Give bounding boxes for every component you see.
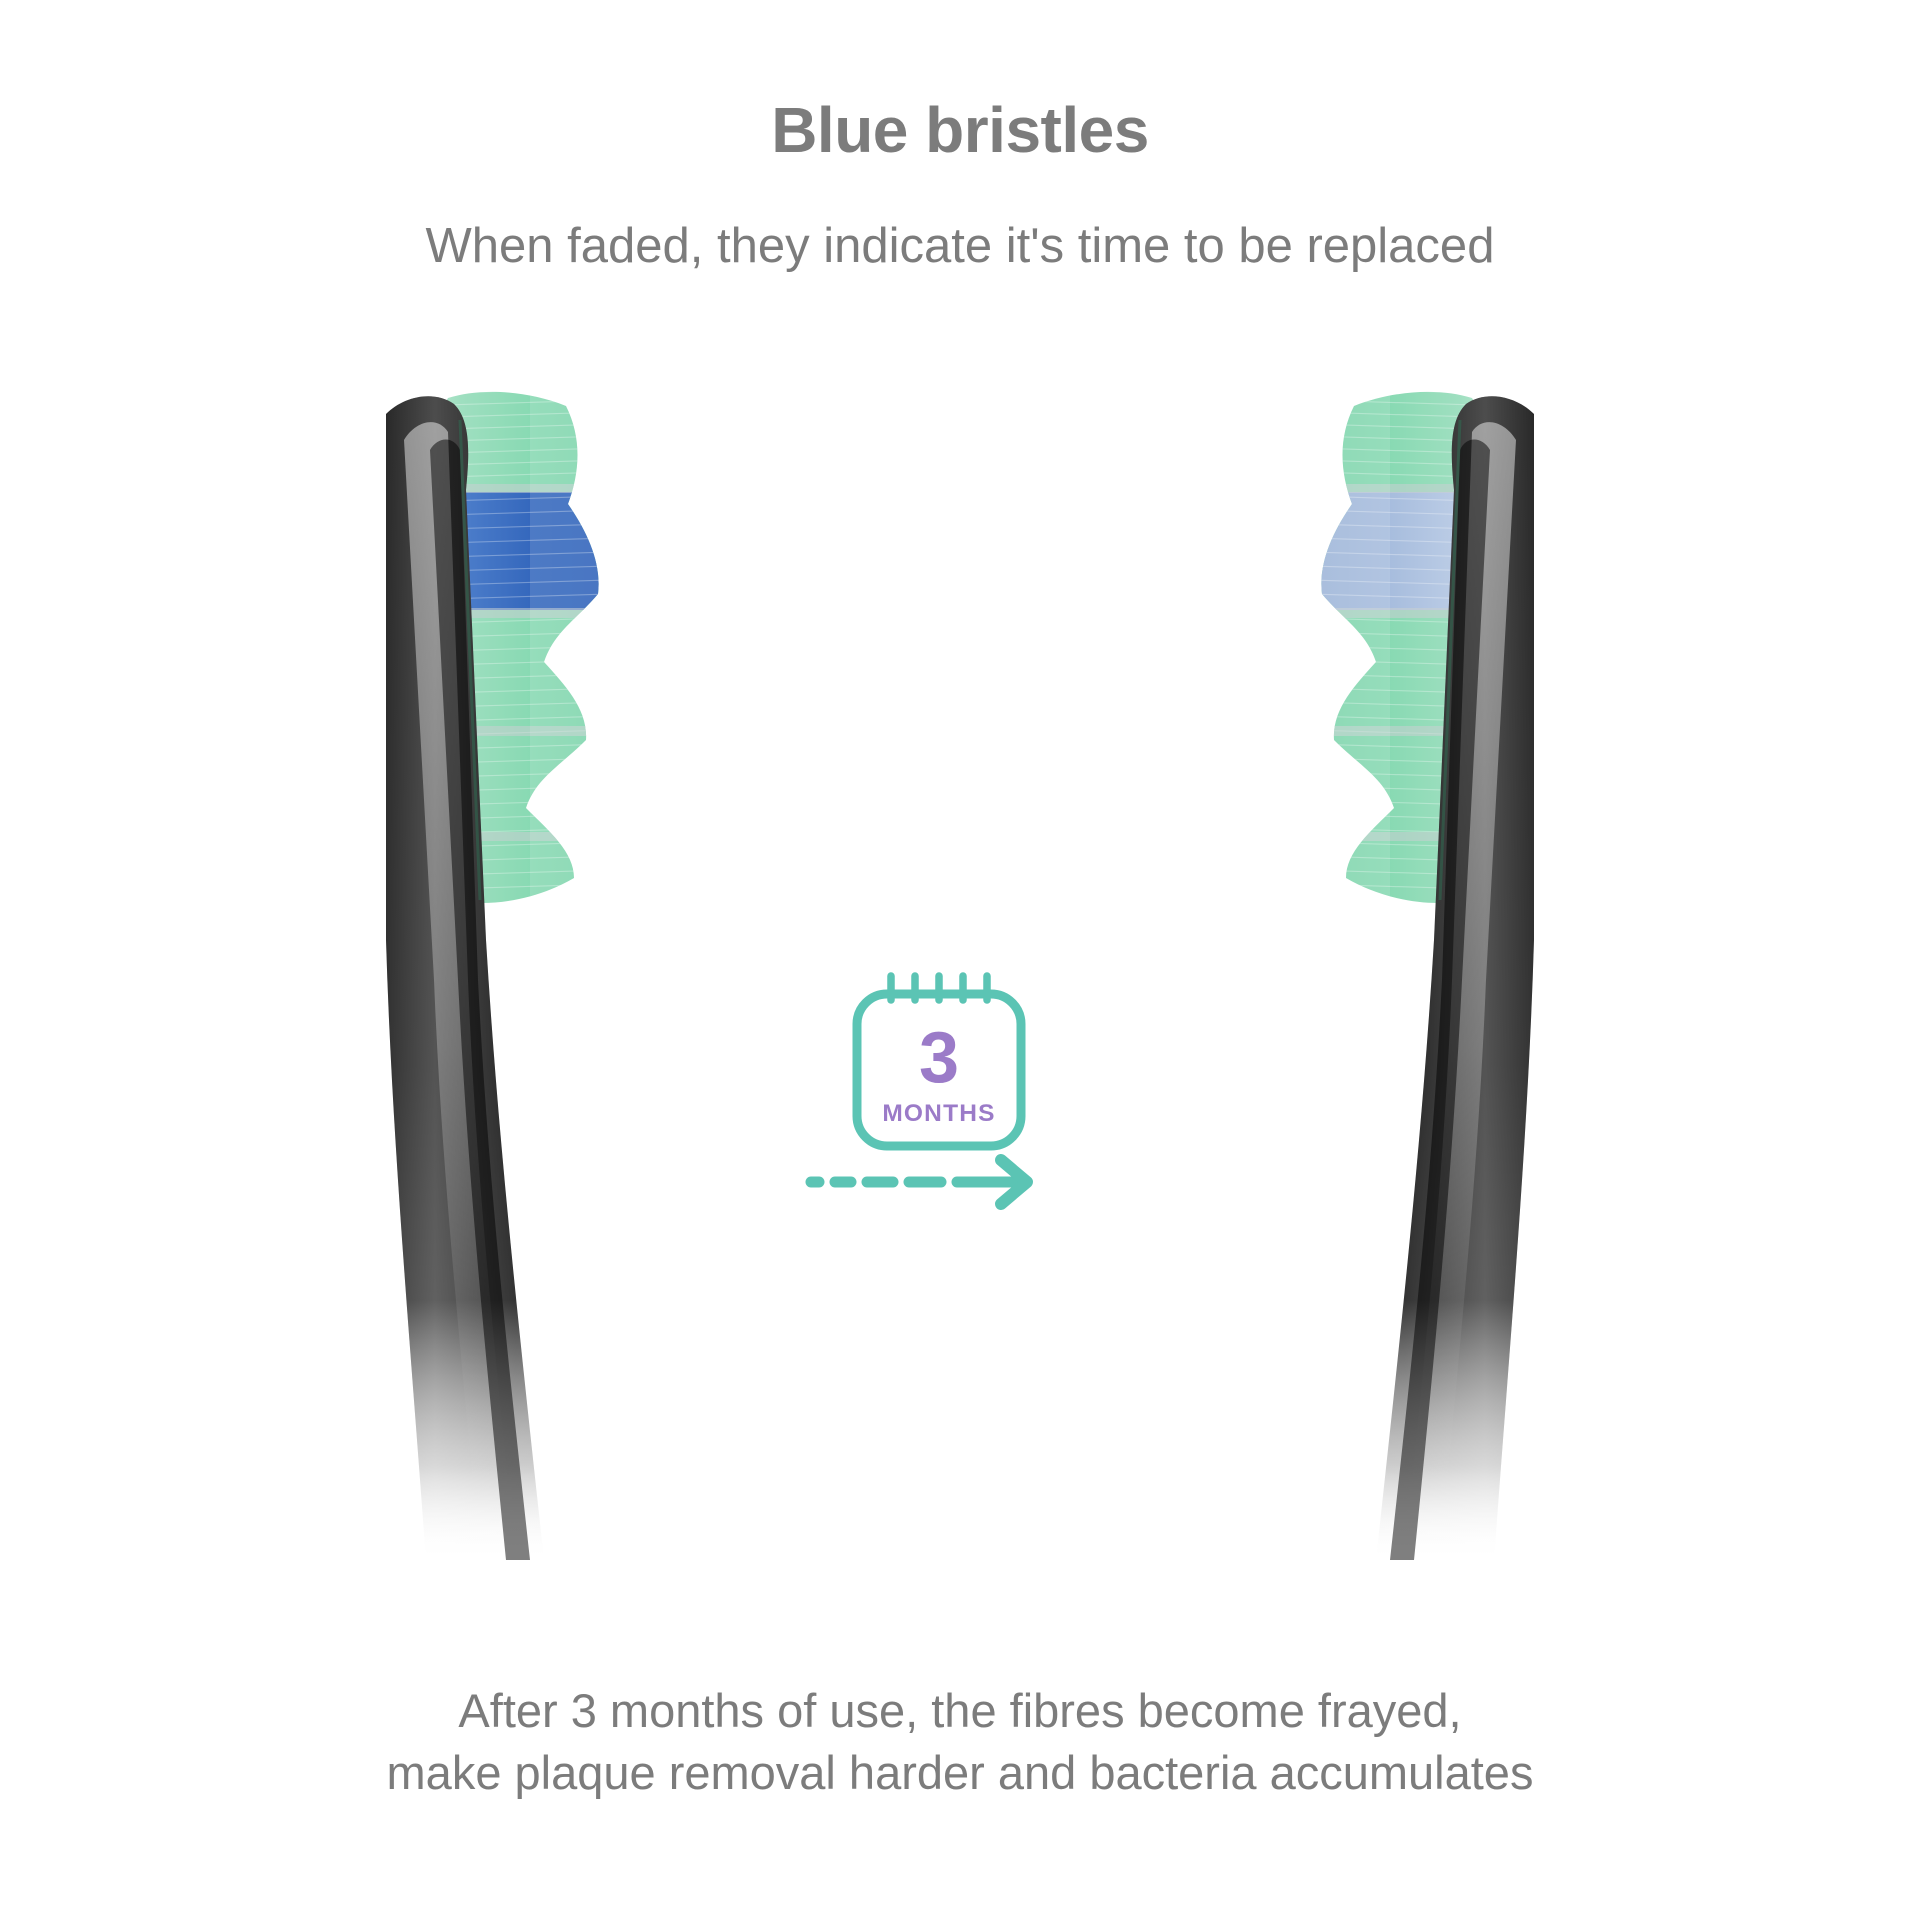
page-title: Blue bristles <box>0 0 1920 162</box>
caption-line-1: After 3 months of use, the fibres become… <box>0 1680 1920 1742</box>
badge-number: 3 <box>919 1018 959 1098</box>
replacement-interval-badge: 3 MONTHS <box>845 970 1075 1240</box>
caption-line-2: make plaque removal harder and bacteria … <box>0 1742 1920 1804</box>
infographic-page: Blue bristles When faded, they indicate … <box>0 0 1920 1920</box>
new-toothbrush-head <box>330 380 890 1560</box>
page-subtitle: When faded, they indicate it's time to b… <box>0 162 1920 274</box>
header: Blue bristles When faded, they indicate … <box>0 0 1920 274</box>
footer-caption: After 3 months of use, the fibres become… <box>0 1680 1920 1804</box>
badge-unit-label: MONTHS <box>882 1100 995 1127</box>
illustration-stage: 3 MONTHS <box>0 380 1920 1560</box>
worn-toothbrush-head <box>1030 380 1590 1560</box>
